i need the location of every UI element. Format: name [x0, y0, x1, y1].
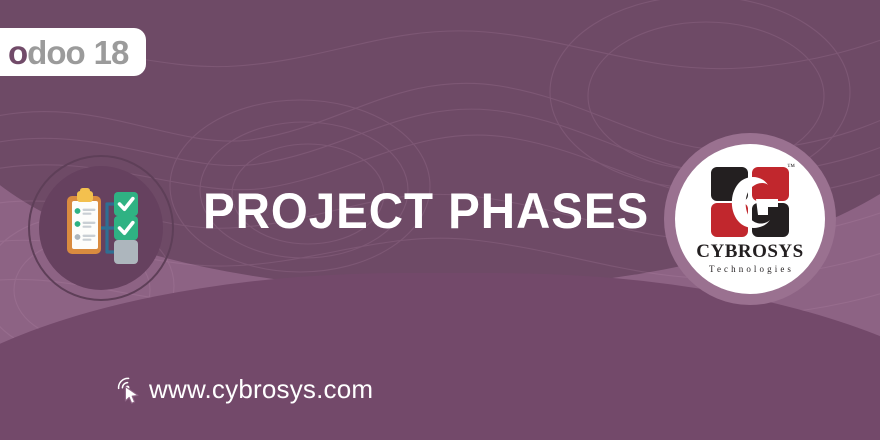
odoo-wordmark-first-letter: o	[8, 34, 27, 71]
cybrosys-mark-icon: ™	[708, 165, 792, 239]
project-phases-clipboard-icon	[55, 182, 147, 274]
odoo-version-number: 18	[94, 36, 129, 69]
odoo-project-phases-banner: odoo 18	[0, 0, 880, 440]
cursor-click-icon	[114, 374, 142, 404]
trademark-symbol: ™	[787, 162, 795, 171]
cybrosys-logo-disc: ™ CYBROSYS Technologies	[675, 144, 825, 294]
page-title: PROJECT PHASES	[203, 186, 649, 236]
odoo-version-badge: odoo 18	[0, 28, 146, 76]
cybrosys-company-name: CYBROSYS	[696, 242, 803, 261]
odoo-wordmark-rest: doo	[27, 34, 84, 71]
odoo-wordmark: odoo	[8, 36, 85, 69]
project-phases-icon-medallion	[28, 155, 174, 301]
icon-medallion-inner-disc	[39, 166, 163, 290]
cybrosys-logo-medallion: ™ CYBROSYS Technologies	[664, 133, 836, 305]
footer-website[interactable]: www.cybrosys.com	[114, 374, 373, 404]
website-url-text: www.cybrosys.com	[149, 376, 373, 402]
cybrosys-tagline: Technologies	[706, 265, 794, 274]
